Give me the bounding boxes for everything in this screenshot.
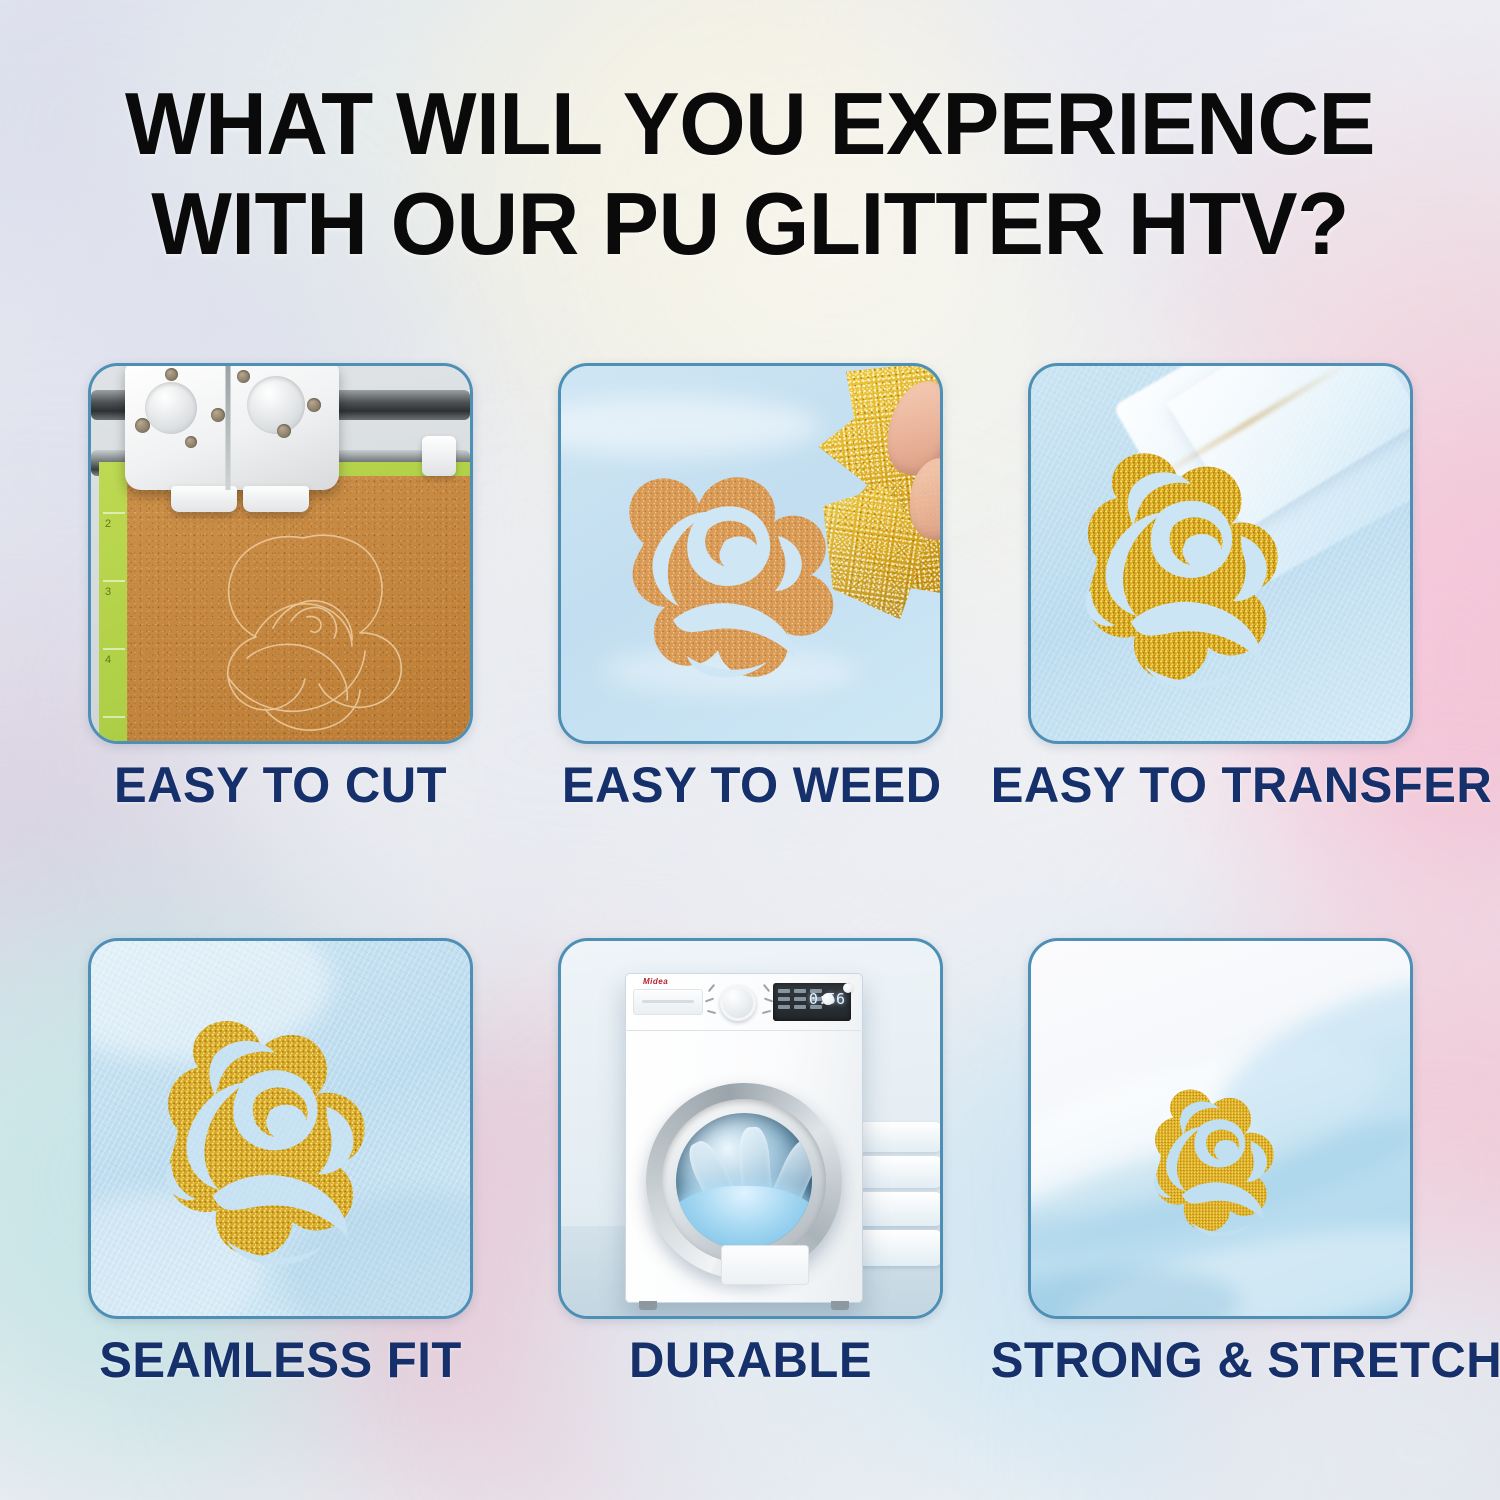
caption-seamless-fit: SEAMLESS FIT bbox=[92, 1331, 469, 1389]
feature-cell-easy-to-transfer[interactable]: EASY TO TRANSFER bbox=[1028, 363, 1413, 744]
title-line-1: WHAT WILL YOU EXPERIENCE bbox=[81, 74, 1420, 174]
weeding-hand-icon bbox=[561, 366, 940, 741]
stretch-fabric-icon bbox=[1031, 941, 1410, 1316]
caption-easy-to-transfer: EASY TO TRANSFER bbox=[991, 756, 1451, 814]
feature-grid: 2 3 4 bbox=[0, 363, 1500, 1319]
feature-image-strong-and-stretchy bbox=[1028, 938, 1413, 1319]
feature-cell-durable[interactable]: Midea bbox=[558, 938, 943, 1319]
caption-strong-and-stretchy: STRONG & STRETCHY bbox=[991, 1331, 1451, 1389]
feature-image-easy-to-transfer bbox=[1028, 363, 1413, 744]
feature-cell-strong-and-stretchy[interactable]: STRONG & STRETCHY bbox=[1028, 938, 1413, 1319]
washing-machine-icon: Midea bbox=[561, 941, 940, 1316]
feature-row-1: 2 3 4 bbox=[0, 363, 1500, 744]
feature-image-easy-to-cut: 2 3 4 bbox=[88, 363, 473, 744]
feature-image-easy-to-weed bbox=[558, 363, 943, 744]
title-line-2: WITH OUR PU GLITTER HTV? bbox=[81, 174, 1420, 274]
feature-cell-easy-to-weed[interactable]: EASY TO WEED bbox=[558, 363, 943, 744]
page-title: WHAT WILL YOU EXPERIENCE WITH OUR PU GLI… bbox=[0, 74, 1500, 274]
washer-display: 0:56 bbox=[773, 983, 851, 1021]
feature-image-seamless-fit bbox=[88, 938, 473, 1319]
washer-brand: Midea bbox=[643, 977, 668, 986]
feature-cell-seamless-fit[interactable]: SEAMLESS FIT bbox=[88, 938, 473, 1319]
caption-durable: DURABLE bbox=[562, 1331, 939, 1389]
cutter-machine-icon: 2 3 4 bbox=[91, 366, 470, 741]
feature-cell-easy-to-cut[interactable]: 2 3 4 bbox=[88, 363, 473, 744]
transfer-sheet-icon bbox=[1031, 366, 1410, 741]
fabric-weave-icon bbox=[91, 941, 470, 1316]
feature-row-2: SEAMLESS FIT M bbox=[0, 938, 1500, 1319]
feature-image-durable: Midea bbox=[558, 938, 943, 1319]
caption-easy-to-weed: EASY TO WEED bbox=[562, 756, 939, 814]
caption-easy-to-cut: EASY TO CUT bbox=[92, 756, 469, 814]
